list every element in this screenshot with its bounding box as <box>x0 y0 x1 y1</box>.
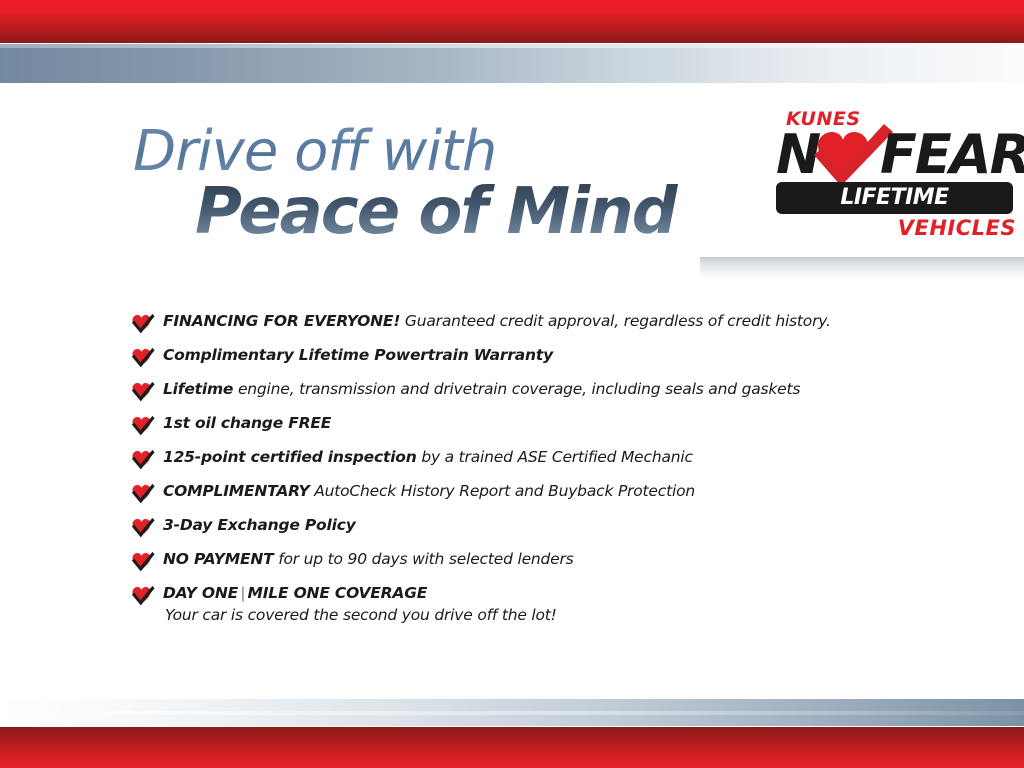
top-red-banner <box>0 0 1024 43</box>
list-item-lead-2: MILE ONE COVERAGE <box>248 584 428 602</box>
header-divider <box>700 257 1024 279</box>
list-item: COMPLIMENTARY AutoCheck History Report a… <box>131 478 931 512</box>
heart-check-bullet-icon <box>131 517 155 538</box>
list-item: FINANCING FOR EVERYONE! Guaranteed credi… <box>131 308 931 342</box>
list-item: Lifetime engine, transmission and drivet… <box>131 376 931 410</box>
logo-word-fear: FEAR <box>880 128 1024 182</box>
list-item: DAY ONE|MILE ONE COVERAGE Your car is co… <box>131 580 931 626</box>
top-gray-highlight <box>0 44 1024 48</box>
list-item-lead: COMPLIMENTARY <box>163 482 309 500</box>
headline-line-2: Peace of Mind <box>195 178 773 246</box>
heart-check-bullet-icon <box>131 313 155 334</box>
list-item: 125-point certified inspection by a trai… <box>131 444 931 478</box>
heart-check-bullet-icon <box>131 483 155 504</box>
list-item-separator: | <box>238 584 247 602</box>
bottom-gray-highlight <box>0 711 1024 715</box>
list-item: Complimentary Lifetime Powertrain Warran… <box>131 342 931 376</box>
list-item: NO PAYMENT for up to 90 days with select… <box>131 546 931 580</box>
list-item-lead: Lifetime <box>163 380 233 398</box>
list-item-text: FINANCING FOR EVERYONE! Guaranteed credi… <box>163 312 831 330</box>
list-item-lead: DAY ONE <box>163 584 238 602</box>
list-item-rest: Guaranteed credit approval, regardless o… <box>400 312 831 330</box>
list-item-text: 3-Day Exchange Policy <box>163 516 356 534</box>
list-item-text: DAY ONE|MILE ONE COVERAGE <box>163 584 427 602</box>
heart-check-bullet-icon <box>131 449 155 470</box>
list-item-rest: engine, transmission and drivetrain cove… <box>233 380 800 398</box>
heart-check-bullet-icon <box>131 585 155 606</box>
heart-check-bullet-icon <box>131 551 155 572</box>
logo-certified-text: LIFETIME CERTIFIED <box>776 182 1013 214</box>
heart-check-bullet-icon <box>131 415 155 436</box>
list-item-text: Lifetime engine, transmission and drivet… <box>163 380 800 398</box>
list-item-lead: 1st oil change FREE <box>163 414 331 432</box>
heart-check-bullet-icon <box>131 347 155 368</box>
list-item-lead: NO PAYMENT <box>163 550 273 568</box>
list-item-rest: for up to 90 days with selected lenders <box>273 550 573 568</box>
list-item-lead: 3-Day Exchange Policy <box>163 516 356 534</box>
list-item-subtext: Your car is covered the second you drive… <box>163 604 931 626</box>
list-item-text: Complimentary Lifetime Powertrain Warran… <box>163 346 553 364</box>
headline-line-1: Drive off with <box>133 122 773 182</box>
logo-certified-bar: LIFETIME CERTIFIED <box>776 182 1013 214</box>
headline: Drive off with Peace of Mind <box>133 122 773 246</box>
list-item-lead: FINANCING FOR EVERYONE! <box>163 312 400 330</box>
kunes-no-fear-logo: KUNES N FEAR LIFETIME CERTIFIED VEHICLES <box>776 108 1018 244</box>
list-item-text: NO PAYMENT for up to 90 days with select… <box>163 550 574 568</box>
logo-vehicles-text: VEHICLES <box>898 216 1016 240</box>
list-item: 1st oil change FREE <box>131 410 931 444</box>
bottom-red-banner <box>0 727 1024 768</box>
heart-check-bullet-icon <box>131 381 155 402</box>
logo-wordmark: N FEAR <box>776 128 1018 184</box>
promo-card: Drive off with Peace of Mind KUNES N FEA… <box>0 0 1024 768</box>
benefits-list: FINANCING FOR EVERYONE! Guaranteed credi… <box>131 308 931 626</box>
list-item-text: 125-point certified inspection by a trai… <box>163 448 693 466</box>
list-item-rest: by a trained ASE Certified Mechanic <box>417 448 693 466</box>
list-item-rest: AutoCheck History Report and Buyback Pro… <box>309 482 695 500</box>
list-item-text: COMPLIMENTARY AutoCheck History Report a… <box>163 482 695 500</box>
list-item: 3-Day Exchange Policy <box>131 512 931 546</box>
list-item-text: 1st oil change FREE <box>163 414 331 432</box>
list-item-lead: Complimentary Lifetime Powertrain Warran… <box>163 346 553 364</box>
top-gray-banner <box>0 44 1024 83</box>
list-item-lead: 125-point certified inspection <box>163 448 417 466</box>
